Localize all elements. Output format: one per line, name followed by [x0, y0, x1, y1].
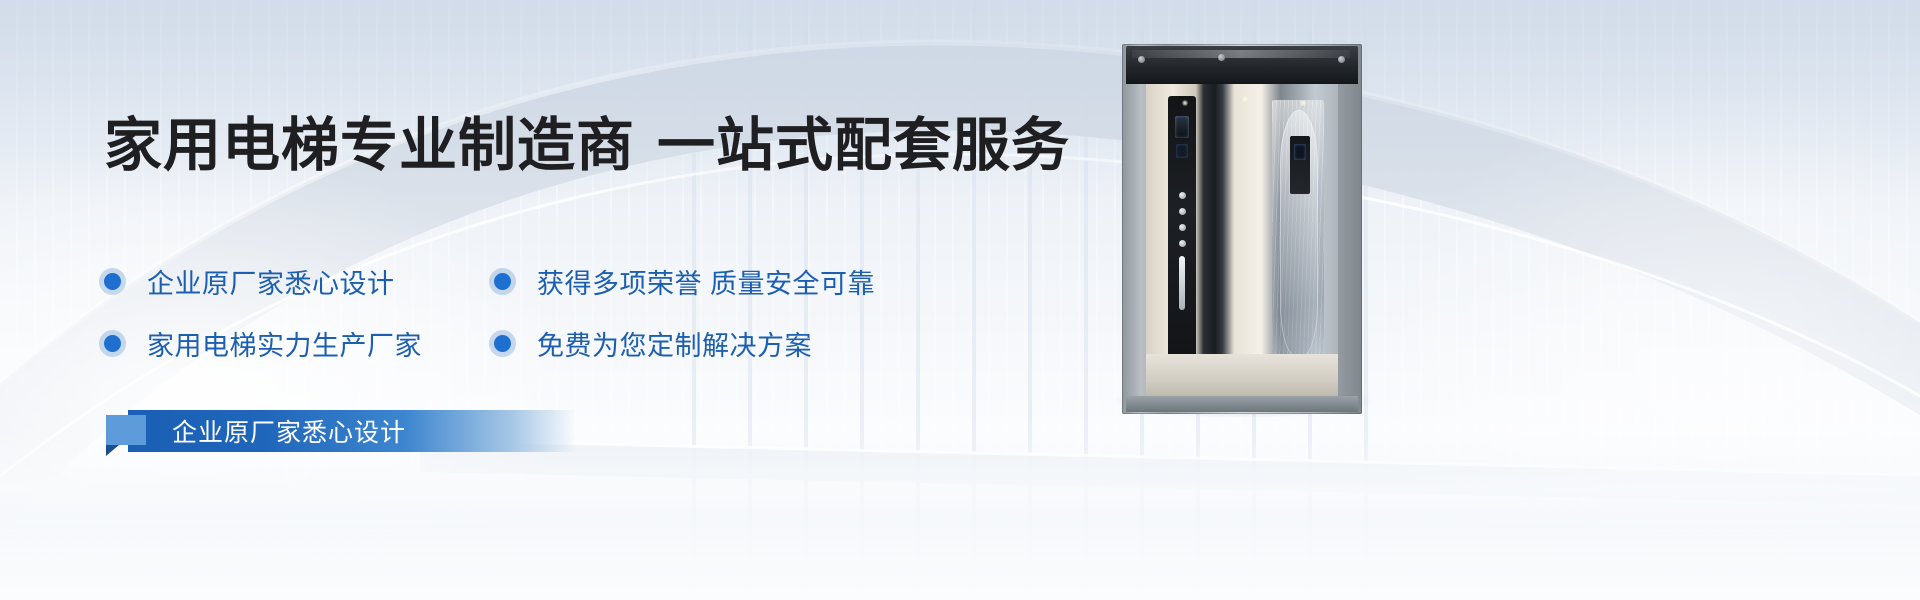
badge-label: 企业原厂家悉心设计 [172, 410, 406, 452]
list-item: 家用电梯实力生产厂家 [104, 312, 494, 374]
page-title: 家用电梯专业制造商一站式配套服务 [104, 114, 1070, 178]
elevator-cabin-image [1122, 44, 1362, 414]
list-item: 免费为您定制解决方案 [494, 312, 1014, 374]
elevator-header-highlight [1132, 50, 1350, 58]
list-item-label: 企业原厂家悉心设计 [147, 262, 395, 301]
elevator-ceiling-light [1182, 100, 1188, 106]
elevator-button [1179, 208, 1186, 215]
hero-banner: 家用电梯专业制造商一站式配套服务 企业原厂家悉心设计 获得多项荣誉 质量安全可靠… [0, 0, 1920, 600]
list-item-label: 获得多项荣誉 质量安全可靠 [537, 262, 875, 301]
feature-bullet-list: 企业原厂家悉心设计 获得多项荣誉 质量安全可靠 家用电梯实力生产厂家 免费为您定… [104, 250, 1064, 374]
bullet-dot-icon [494, 335, 511, 352]
headline-part-1: 家用电梯专业制造商 [104, 113, 635, 178]
elevator-button [1179, 240, 1186, 247]
elevator-button [1179, 224, 1186, 231]
elevator-ceiling-light [1242, 96, 1248, 102]
headline-part-2: 一站式配套服务 [657, 113, 1070, 178]
bullet-dot-icon [494, 273, 511, 290]
bullet-dot-icon [104, 273, 121, 290]
list-item: 企业原厂家悉心设计 [104, 250, 494, 312]
list-item-label: 免费为您定制解决方案 [537, 324, 812, 363]
elevator-button [1179, 192, 1186, 199]
elevator-display-screen [1175, 116, 1189, 138]
elevator-bolt [1138, 56, 1145, 63]
elevator-handrail [1179, 256, 1185, 310]
elevator-ceiling-light [1300, 100, 1306, 106]
elevator-bolt [1218, 54, 1225, 61]
list-item: 获得多项荣誉 质量安全可靠 [494, 250, 1014, 312]
list-item-label: 家用电梯实力生产厂家 [147, 324, 422, 363]
elevator-cabin-floor [1146, 354, 1338, 398]
elevator-display-screen-right [1294, 144, 1306, 160]
elevator-bolt [1338, 56, 1345, 63]
bullet-dot-icon [104, 335, 121, 352]
elevator-base-sill [1126, 396, 1358, 412]
status-badge: 企业原厂家悉心设计 [106, 410, 576, 452]
badge-flag-icon [106, 415, 146, 445]
elevator-indicator-screen [1176, 144, 1188, 158]
banner-content: 家用电梯专业制造商一站式配套服务 企业原厂家悉心设计 获得多项荣誉 质量安全可靠… [0, 0, 1100, 600]
